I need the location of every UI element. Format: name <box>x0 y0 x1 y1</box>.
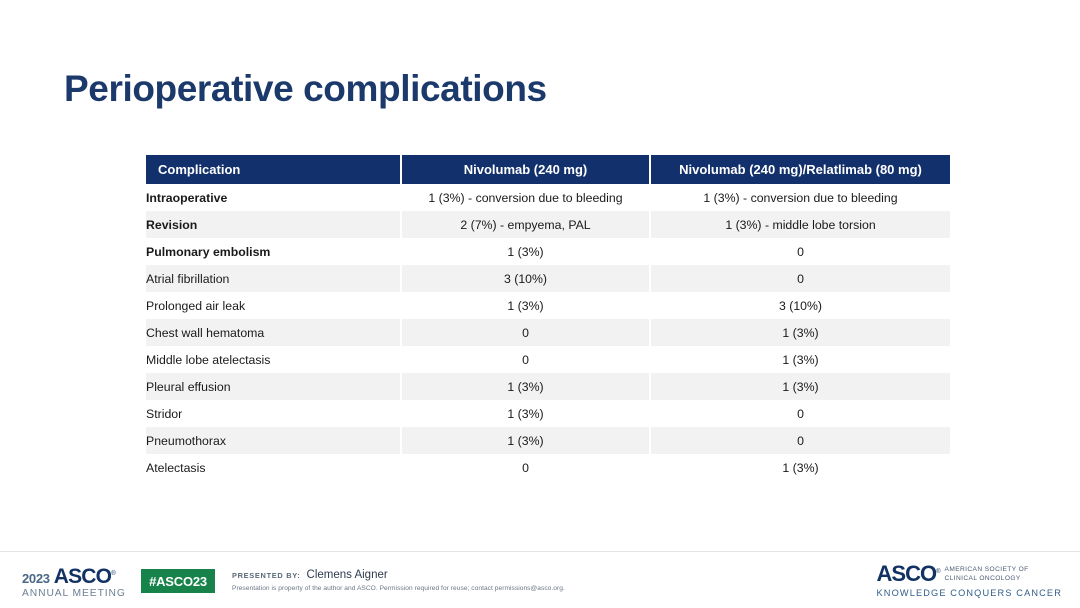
presenter-name: Clemens Aigner <box>307 569 388 581</box>
asco-brand-logo: ASCO AMERICAN SOCIETY OF CLINICAL ONCOLO… <box>877 563 1062 598</box>
brand-tagline: KNOWLEDGE CONQUERS CANCER <box>877 589 1062 598</box>
cell-complication: Chest wall hematoma <box>146 319 401 346</box>
cell-nivolumab: 1 (3%) <box>401 427 650 454</box>
cell-complication: Pleural effusion <box>146 373 401 400</box>
brand-society-line1: AMERICAN SOCIETY OF <box>945 566 1029 573</box>
table-row: Revision2 (7%) - empyema, PAL1 (3%) - mi… <box>146 211 950 238</box>
cell-nivolumab-relatlimab: 0 <box>650 265 950 292</box>
cell-complication: Pneumothorax <box>146 427 401 454</box>
column-header-nivolumab-relatlimab: Nivolumab (240 mg)/Relatlimab (80 mg) <box>650 155 950 184</box>
table-row: Prolonged air leak1 (3%)3 (10%) <box>146 292 950 319</box>
cell-complication: Intraoperative <box>146 184 401 211</box>
cell-nivolumab: 1 (3%) <box>401 400 650 427</box>
logo-year: 2023 <box>22 572 50 585</box>
brand-logo-top: ASCO AMERICAN SOCIETY OF CLINICAL ONCOLO… <box>877 563 1062 585</box>
presented-by-line: PRESENTED BY: Clemens Aigner <box>232 569 565 581</box>
cell-complication: Stridor <box>146 400 401 427</box>
table-header: Complication Nivolumab (240 mg) Nivoluma… <box>146 155 950 184</box>
presenter-credit: PRESENTED BY: Clemens Aigner Presentatio… <box>232 569 565 592</box>
cell-complication: Middle lobe atelectasis <box>146 346 401 373</box>
cell-nivolumab-relatlimab: 1 (3%) <box>650 346 950 373</box>
cell-nivolumab: 0 <box>401 346 650 373</box>
table-row: Middle lobe atelectasis01 (3%) <box>146 346 950 373</box>
cell-nivolumab: 1 (3%) - conversion due to bleeding <box>401 184 650 211</box>
cell-complication: Pulmonary embolism <box>146 238 401 265</box>
cell-nivolumab-relatlimab: 1 (3%) <box>650 319 950 346</box>
cell-nivolumab: 0 <box>401 454 650 481</box>
footer-divider <box>0 551 1080 552</box>
brand-asco-mark: ASCO <box>877 563 940 585</box>
table-row: Chest wall hematoma01 (3%) <box>146 319 950 346</box>
cell-nivolumab-relatlimab: 1 (3%) <box>650 373 950 400</box>
table-row: Intraoperative1 (3%) - conversion due to… <box>146 184 950 211</box>
table-row: Atrial fibrillation3 (10%)0 <box>146 265 950 292</box>
cell-nivolumab-relatlimab: 1 (3%) - conversion due to bleeding <box>650 184 950 211</box>
logo-subtitle: ANNUAL MEETING <box>22 589 137 599</box>
cell-nivolumab-relatlimab: 0 <box>650 427 950 454</box>
presented-by-label: PRESENTED BY: <box>232 571 301 580</box>
cell-nivolumab-relatlimab: 1 (3%) <box>650 454 950 481</box>
cell-nivolumab: 1 (3%) <box>401 373 650 400</box>
cell-complication: Prolonged air leak <box>146 292 401 319</box>
cell-nivolumab-relatlimab: 0 <box>650 238 950 265</box>
cell-nivolumab: 1 (3%) <box>401 292 650 319</box>
perioperative-complications-table: Complication Nivolumab (240 mg) Nivoluma… <box>146 155 950 481</box>
cell-complication: Atrial fibrillation <box>146 265 401 292</box>
cell-nivolumab-relatlimab: 3 (10%) <box>650 292 950 319</box>
table-row: Pleural effusion1 (3%)1 (3%) <box>146 373 950 400</box>
cell-complication: Atelectasis <box>146 454 401 481</box>
cell-nivolumab-relatlimab: 1 (3%) - middle lobe torsion <box>650 211 950 238</box>
table-body: Intraoperative1 (3%) - conversion due to… <box>146 184 950 481</box>
asco-annual-meeting-logo: 2023 ASCO ANNUAL MEETING <box>22 566 137 599</box>
brand-society-line2: CLINICAL ONCOLOGY <box>945 575 1021 582</box>
table-row: Atelectasis01 (3%) <box>146 454 950 481</box>
logo-asco-mark: ASCO <box>54 566 115 587</box>
page-title: Perioperative complications <box>64 68 547 110</box>
hashtag-badge: #ASCO23 <box>141 569 215 593</box>
cell-nivolumab: 1 (3%) <box>401 238 650 265</box>
cell-complication: Revision <box>146 211 401 238</box>
brand-society-name: AMERICAN SOCIETY OF CLINICAL ONCOLOGY <box>945 563 1029 584</box>
column-header-nivolumab: Nivolumab (240 mg) <box>401 155 650 184</box>
cell-nivolumab: 3 (10%) <box>401 265 650 292</box>
cell-nivolumab-relatlimab: 0 <box>650 400 950 427</box>
permission-notice: Presentation is property of the author a… <box>232 585 565 592</box>
table-header-row: Complication Nivolumab (240 mg) Nivoluma… <box>146 155 950 184</box>
cell-nivolumab: 2 (7%) - empyema, PAL <box>401 211 650 238</box>
column-header-complication: Complication <box>146 155 401 184</box>
table-row: Stridor1 (3%)0 <box>146 400 950 427</box>
table-row: Pulmonary embolism1 (3%)0 <box>146 238 950 265</box>
table-row: Pneumothorax1 (3%)0 <box>146 427 950 454</box>
cell-nivolumab: 0 <box>401 319 650 346</box>
logo-top-line: 2023 ASCO <box>22 566 137 587</box>
